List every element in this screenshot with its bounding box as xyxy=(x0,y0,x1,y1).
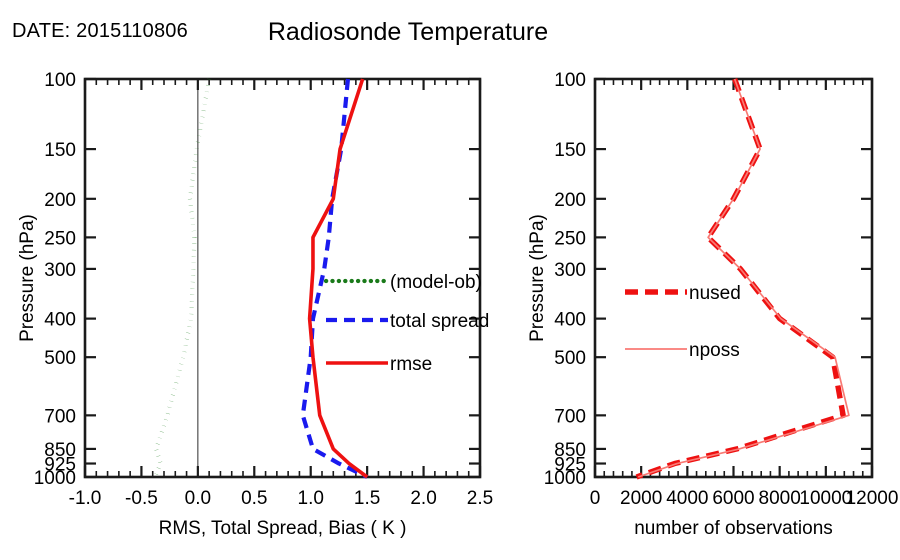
left-panel: -1.0-0.50.00.51.01.52.02.510015020025030… xyxy=(17,70,493,539)
x-tick-label: 0 xyxy=(590,488,601,509)
series-line--model-ob- xyxy=(155,79,209,477)
legend-label: rmse xyxy=(390,354,432,375)
legend-label: (model-ob) xyxy=(390,272,482,293)
y-tick-label: 700 xyxy=(44,406,76,427)
series-line-rmse xyxy=(310,79,368,477)
x-tick-label: 4000 xyxy=(666,488,708,509)
x-tick-label: 2.5 xyxy=(467,488,493,509)
y-tick-label: 1000 xyxy=(544,468,586,489)
legend-label: nused xyxy=(689,283,741,304)
y-tick-label: 1000 xyxy=(34,468,76,489)
y-tick-label: 500 xyxy=(44,348,76,369)
series-line-nposs xyxy=(638,79,849,477)
x-tick-label: 8000 xyxy=(759,488,801,509)
right-panel: 0200040006000800010000120001001502002503… xyxy=(527,70,898,539)
plots-canvas: -1.0-0.50.00.51.01.52.02.510015020025030… xyxy=(0,0,900,560)
y-tick-label: 250 xyxy=(554,228,586,249)
y-tick-label: 700 xyxy=(554,406,586,427)
y-tick-label: 500 xyxy=(554,348,586,369)
y-axis-title: Pressure (hPa) xyxy=(527,214,548,342)
y-axis-title: Pressure (hPa) xyxy=(17,214,38,342)
x-axis-title: RMS, Total Spread, Bias ( K ) xyxy=(159,518,407,539)
y-tick-label: 300 xyxy=(44,260,76,281)
x-tick-label: 12000 xyxy=(846,488,899,509)
y-tick-label: 250 xyxy=(44,228,76,249)
y-tick-label: 200 xyxy=(554,190,586,211)
x-tick-label: 10000 xyxy=(799,488,852,509)
x-tick-label: -1.0 xyxy=(69,488,102,509)
x-axis-title: number of observations xyxy=(634,518,833,539)
y-tick-label: 100 xyxy=(554,70,586,91)
y-tick-label: 150 xyxy=(44,140,76,161)
y-tick-label: 100 xyxy=(44,70,76,91)
x-tick-label: 2000 xyxy=(620,488,662,509)
x-tick-label: 0.0 xyxy=(185,488,211,509)
figure-root: DATE: 2015110806 Radiosonde Temperature … xyxy=(0,0,900,560)
y-tick-label: 300 xyxy=(554,260,586,281)
x-tick-label: 1.0 xyxy=(298,488,324,509)
x-tick-label: 6000 xyxy=(712,488,754,509)
legend-label: total spread xyxy=(390,311,489,332)
series-line-nused xyxy=(637,79,844,477)
x-tick-label: 0.5 xyxy=(241,488,267,509)
x-tick-label: -0.5 xyxy=(125,488,158,509)
legend-label: nposs xyxy=(689,340,740,361)
y-tick-label: 400 xyxy=(554,310,586,331)
x-tick-label: 2.0 xyxy=(410,488,436,509)
x-tick-label: 1.5 xyxy=(354,488,380,509)
y-tick-label: 150 xyxy=(554,140,586,161)
y-tick-label: 400 xyxy=(44,310,76,331)
y-tick-label: 200 xyxy=(44,190,76,211)
